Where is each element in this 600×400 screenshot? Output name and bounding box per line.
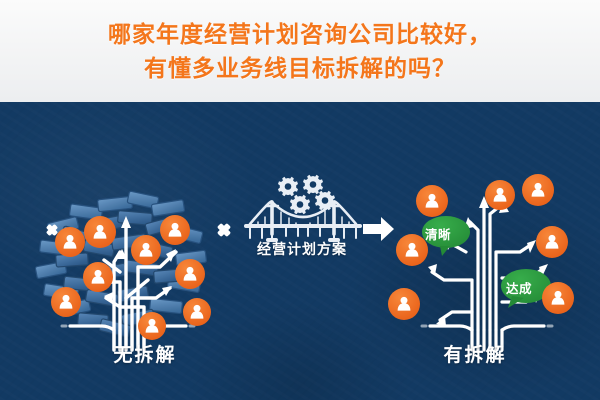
right-person-badges bbox=[388, 174, 574, 320]
illustration-stage: 经营计划方案 清晰 达成 无拆解 有拆解 bbox=[0, 102, 600, 400]
header-banner: 哪家年度经营计划咨询公司比较好， 有懂多业务线目标拆解的吗？ bbox=[0, 0, 600, 102]
poster-root: 哪家年度经营计划咨询公司比较好， 有懂多业务线目标拆解的吗？ bbox=[0, 0, 600, 400]
cross-marker-right bbox=[217, 223, 231, 237]
center-plan-label: 经营计划方案 bbox=[232, 239, 372, 259]
center-plan-group bbox=[246, 175, 360, 240]
left-tree-group bbox=[35, 191, 211, 350]
right-tree-group bbox=[388, 174, 574, 350]
arrow-marker-right bbox=[363, 217, 394, 241]
clarity-bubble-label: 清晰 bbox=[425, 224, 451, 243]
page-title-line-1: 哪家年度经营计划咨询公司比较好， bbox=[108, 18, 492, 52]
right-arrowheads bbox=[428, 196, 548, 326]
right-panel-label: 有拆解 bbox=[355, 340, 595, 367]
page-title-line-2: 有懂多业务线目标拆解的吗？ bbox=[144, 52, 456, 86]
left-panel-label: 无拆解 bbox=[0, 340, 290, 367]
achievement-bubble-label: 达成 bbox=[506, 278, 532, 297]
